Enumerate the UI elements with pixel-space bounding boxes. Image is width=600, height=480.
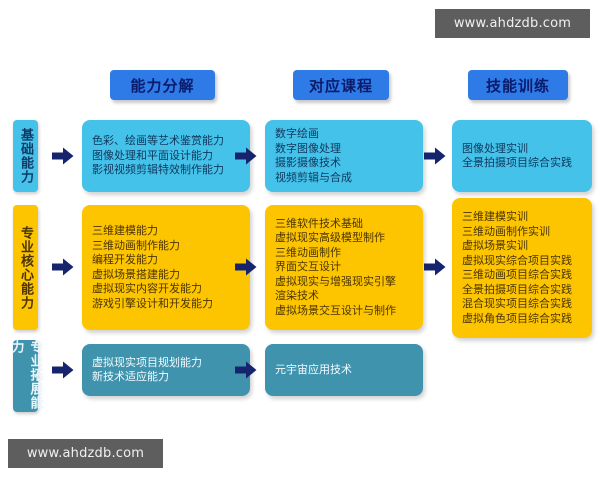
box-line: 数字绘画	[275, 127, 413, 142]
box-line: 新技术适应能力	[92, 370, 240, 385]
course-box-core: 三维软件技术基础虚拟现实高级模型制作三维动画制作界面交互设计虚拟现实与增强现实引…	[265, 205, 423, 330]
box-line: 虚拟现实与增强现实引擎	[275, 275, 413, 290]
ability-box-basic: 色彩、绘画等艺术鉴赏能力图像处理和平面设计能力影视视频剪辑特效制作能力	[82, 120, 250, 192]
box-line: 虚拟角色项目综合实践	[462, 312, 582, 327]
box-line: 三维动画项目综合实践	[462, 268, 582, 283]
box-line: 虚拟现实内容开发能力	[92, 282, 240, 297]
box-line: 游戏引擎设计和开发能力	[92, 297, 240, 312]
arrow-right-icon	[424, 258, 446, 276]
arrow-right-icon	[52, 147, 74, 165]
training-box-basic: 图像处理实训全景拍摄项目综合实践	[452, 120, 592, 192]
watermark-bottom: www.ahdzdb.com	[8, 439, 163, 468]
box-line: 三维软件技术基础	[275, 217, 413, 232]
ability-box-extension: 虚拟现实项目规划能力新技术适应能力	[82, 344, 250, 396]
diagram-canvas: www.ahdzdb.com www.ahdzdb.com 能力分解 对应课程 …	[0, 0, 600, 480]
column-header-course: 对应课程	[293, 70, 389, 100]
category-cap-extension: 专业拓展能力	[13, 340, 38, 412]
box-line: 虚拟现实项目规划能力	[92, 356, 240, 371]
column-header-training: 技能训练	[468, 70, 568, 100]
box-line: 虚拟现实高级模型制作	[275, 231, 413, 246]
training-box-core: 三维建模实训三维动画制作实训虚拟场景实训虚拟现实综合项目实践三维动画项目综合实践…	[452, 198, 592, 338]
arrow-right-icon	[52, 361, 74, 379]
box-line: 虚拟现实综合项目实践	[462, 254, 582, 269]
box-line: 色彩、绘画等艺术鉴赏能力	[92, 134, 240, 149]
box-line: 虚拟场景实训	[462, 239, 582, 254]
box-line: 三维建模实训	[462, 210, 582, 225]
box-line: 图像处理实训	[462, 142, 582, 157]
box-line: 界面交互设计	[275, 260, 413, 275]
box-line: 三维建模能力	[92, 224, 240, 239]
ability-box-core: 三维建模能力三维动画制作能力编程开发能力虚拟场景搭建能力虚拟现实内容开发能力游戏…	[82, 205, 250, 330]
box-line: 三维动画制作实训	[462, 225, 582, 240]
column-header-ability: 能力分解	[110, 70, 215, 100]
box-line: 全景拍摄项目综合实践	[462, 156, 582, 171]
box-line: 虚拟场景搭建能力	[92, 268, 240, 283]
box-line: 虚拟场景交互设计与制作	[275, 304, 413, 319]
box-line: 元宇宙应用技术	[275, 363, 413, 378]
course-box-extension: 元宇宙应用技术	[265, 344, 423, 396]
arrow-right-icon	[424, 147, 446, 165]
watermark-top: www.ahdzdb.com	[435, 9, 590, 38]
box-line: 三维动画制作能力	[92, 239, 240, 254]
box-line: 视频剪辑与合成	[275, 171, 413, 186]
arrow-right-icon	[235, 258, 257, 276]
arrow-right-icon	[235, 361, 257, 379]
box-line: 数字图像处理	[275, 142, 413, 157]
arrow-right-icon	[52, 258, 74, 276]
course-box-basic: 数字绘画数字图像处理摄影摄像技术视频剪辑与合成	[265, 120, 423, 192]
box-line: 编程开发能力	[92, 253, 240, 268]
box-line: 全景拍摄项目综合实践	[462, 283, 582, 298]
box-line: 摄影摄像技术	[275, 156, 413, 171]
box-line: 影视视频剪辑特效制作能力	[92, 163, 240, 178]
box-line: 混合现实项目综合实践	[462, 297, 582, 312]
box-line: 渲染技术	[275, 289, 413, 304]
box-line: 图像处理和平面设计能力	[92, 149, 240, 164]
category-cap-core: 专业核心能力	[13, 205, 38, 330]
arrow-right-icon	[235, 147, 257, 165]
category-cap-basic: 基础能力	[13, 120, 38, 192]
box-line: 三维动画制作	[275, 246, 413, 261]
